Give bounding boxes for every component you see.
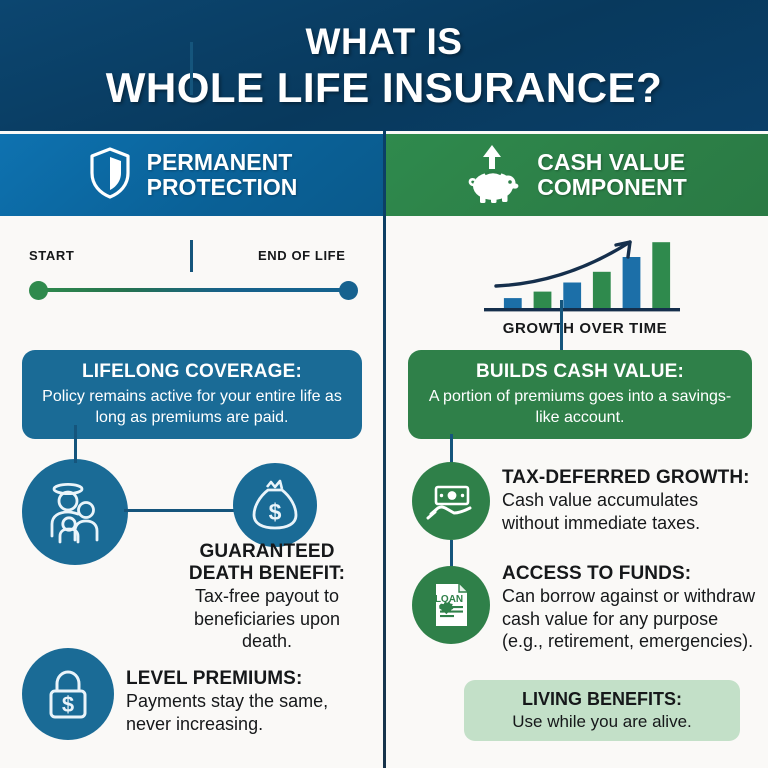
card-access-to-funds-title: ACCESS TO FUNDS: bbox=[502, 563, 758, 585]
timeline-start-dot bbox=[29, 281, 48, 300]
card-living-benefits: LIVING BENEFITS: Use while you are alive… bbox=[464, 680, 740, 741]
connector-lifelong-to-family bbox=[190, 240, 193, 272]
timeline-end-label: END OF LIFE bbox=[258, 248, 346, 263]
chart-bar bbox=[652, 242, 670, 308]
card-tax-deferred-growth: TAX-DEFERRED GROWTH: Cash value accumula… bbox=[502, 467, 754, 534]
connector-family-to-lock bbox=[74, 425, 77, 463]
card-lifelong-coverage-body: Policy remains active for your entire li… bbox=[36, 386, 348, 428]
loan-document-icon: LOAN bbox=[412, 566, 490, 644]
title-banner: WHAT IS WHOLE LIFE INSURANCE? bbox=[0, 0, 768, 131]
band-left-line2: PROTECTION bbox=[147, 175, 298, 200]
family-angel-icon bbox=[22, 459, 128, 565]
section-header-cash-value-component-label: CASH VALUE COMPONENT bbox=[537, 150, 687, 200]
infographic-canvas: WHAT IS WHOLE LIFE INSURANCE? PERMANENT … bbox=[0, 0, 768, 768]
card-level-premiums-title: LEVEL PREMIUMS: bbox=[126, 668, 364, 690]
band-left-line1: PERMANENT bbox=[147, 150, 298, 175]
card-lifelong-coverage-title: LIFELONG COVERAGE: bbox=[36, 361, 348, 383]
card-access-to-funds-body: Can borrow against or withdraw cash valu… bbox=[502, 585, 758, 653]
card-level-premiums: LEVEL PREMIUMS: Payments stay the same, … bbox=[126, 668, 364, 735]
card-guaranteed-death-benefit-title-line1: GUARANTEED bbox=[172, 541, 362, 563]
svg-text:$: $ bbox=[62, 692, 74, 717]
card-tax-deferred-growth-body: Cash value accumulates without immediate… bbox=[502, 489, 754, 534]
chart-bar bbox=[593, 272, 611, 308]
connector-family-to-money-bag bbox=[124, 509, 236, 512]
card-builds-cash-value-title: BUILDS CASH VALUE: bbox=[422, 361, 738, 383]
growth-bar-chart-svg bbox=[470, 228, 700, 324]
band-right-line1: CASH VALUE bbox=[537, 150, 687, 175]
card-living-benefits-title: LIVING BENEFITS: bbox=[476, 689, 728, 710]
card-access-to-funds: ACCESS TO FUNDS: Can borrow against or w… bbox=[502, 563, 758, 653]
card-lifelong-coverage: LIFELONG COVERAGE: Policy remains active… bbox=[22, 350, 362, 439]
band-right-line2: COMPONENT bbox=[537, 175, 687, 200]
section-header-cash-value-component: CASH VALUE COMPONENT bbox=[384, 134, 768, 216]
card-guaranteed-death-benefit-body: Tax-free payout to beneficiaries upon de… bbox=[172, 585, 362, 653]
shield-icon bbox=[87, 146, 133, 205]
growth-bar-chart-label: GROWTH OVER TIME bbox=[470, 320, 700, 337]
chart-bar bbox=[563, 283, 581, 309]
card-guaranteed-death-benefit-title-line2: DEATH BENEFIT: bbox=[172, 563, 362, 585]
timeline-track bbox=[37, 288, 349, 292]
section-header-permanent-protection: PERMANENT PROTECTION bbox=[0, 134, 384, 216]
column-divider bbox=[383, 131, 386, 768]
chart-bar bbox=[504, 298, 522, 308]
svg-text:$: $ bbox=[269, 499, 282, 525]
connector-timeline-to-lifelong bbox=[190, 42, 193, 95]
timeline-end-dot bbox=[339, 281, 358, 300]
chart-baseline bbox=[484, 308, 680, 311]
piggy-bank-arrow-up-icon bbox=[465, 142, 523, 209]
card-builds-cash-value-body: A portion of premiums goes into a saving… bbox=[422, 386, 738, 428]
card-tax-deferred-growth-title: TAX-DEFERRED GROWTH: bbox=[502, 467, 754, 489]
timeline-start-label: START bbox=[29, 248, 74, 263]
card-living-benefits-body: Use while you are alive. bbox=[476, 712, 728, 732]
section-header-permanent-protection-label: PERMANENT PROTECTION bbox=[147, 150, 298, 200]
card-level-premiums-body: Payments stay the same, never increasing… bbox=[126, 690, 364, 735]
hand-holding-cash-icon bbox=[412, 462, 490, 540]
connector-chart-to-builds bbox=[560, 300, 563, 352]
chart-bar bbox=[534, 292, 552, 308]
page-title-line1: WHAT IS bbox=[306, 23, 463, 60]
padlock-dollar-icon: $ bbox=[22, 648, 114, 740]
card-guaranteed-death-benefit: GUARANTEED DEATH BENEFIT: Tax-free payou… bbox=[172, 541, 362, 653]
chart-bar bbox=[623, 257, 641, 308]
card-builds-cash-value: BUILDS CASH VALUE: A portion of premiums… bbox=[408, 350, 752, 439]
money-bag-icon: $ bbox=[233, 463, 317, 547]
